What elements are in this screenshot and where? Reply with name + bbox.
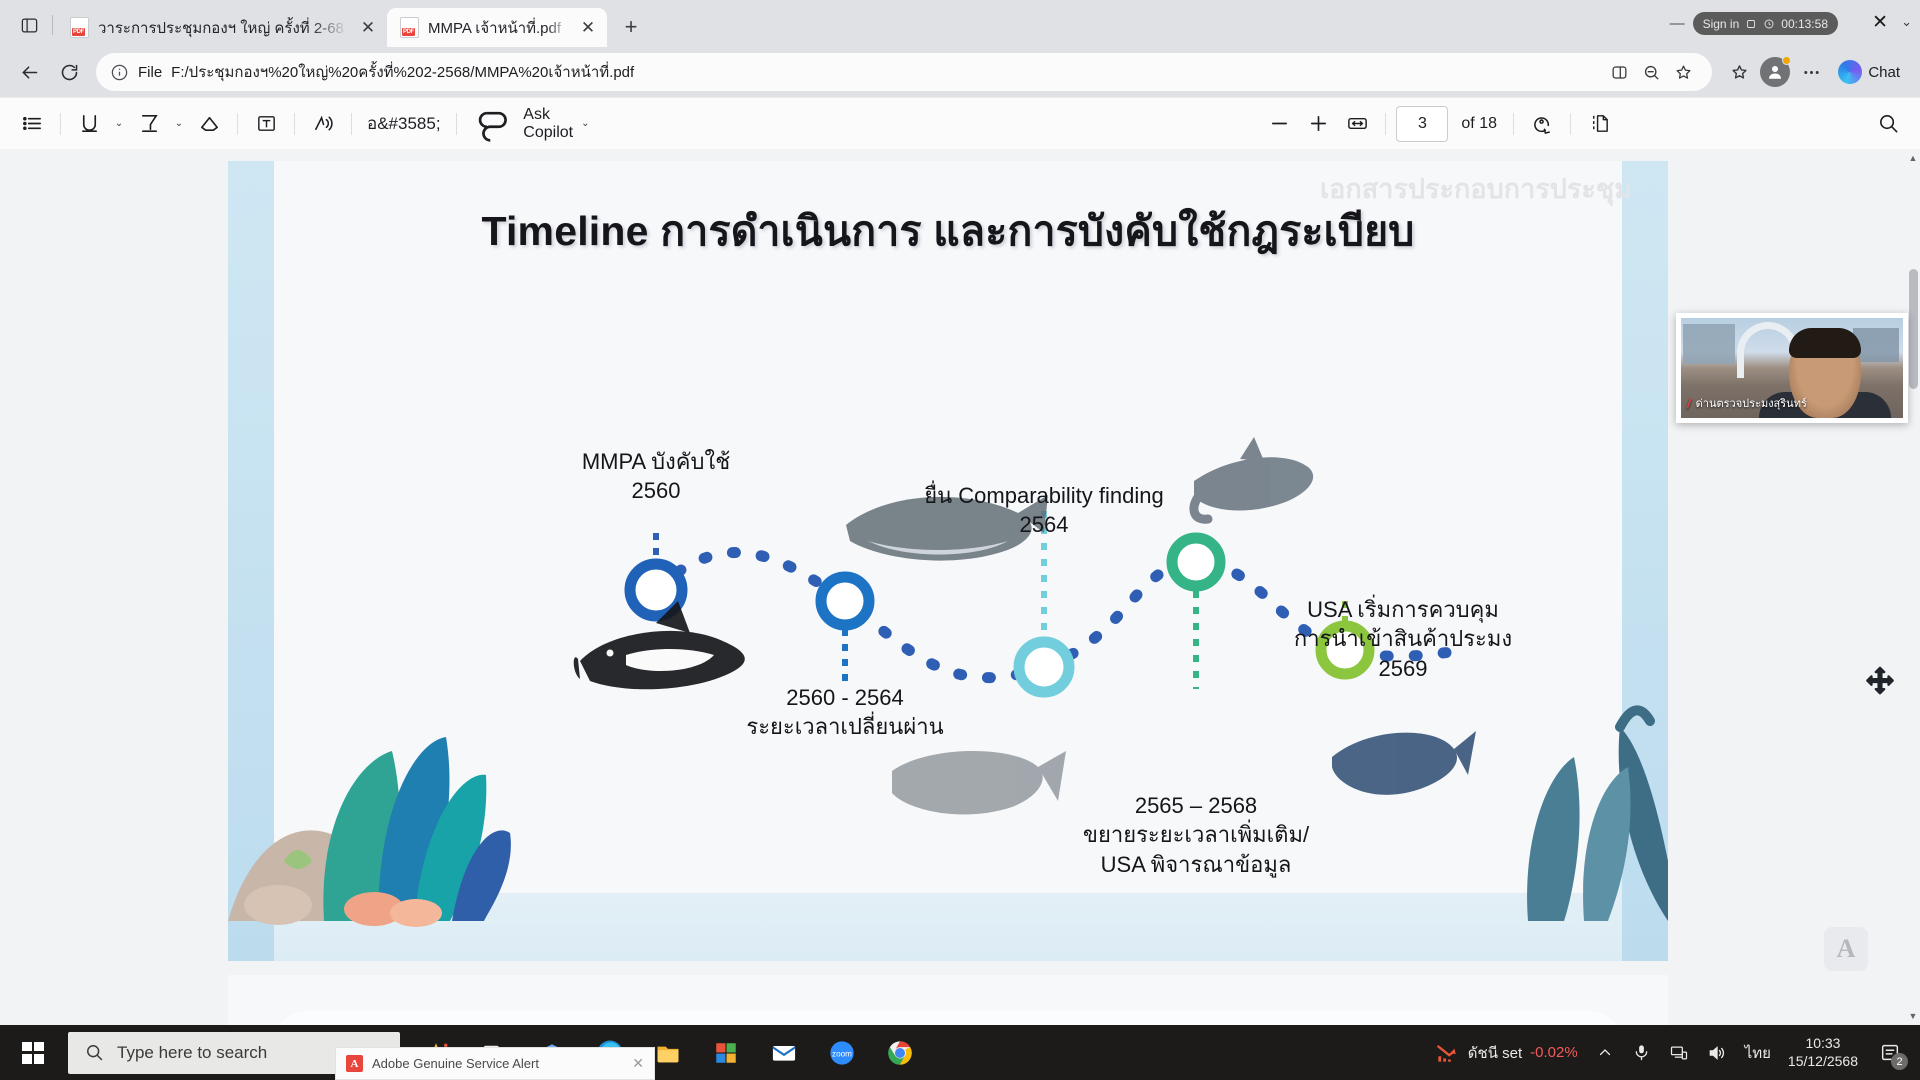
- adobe-alert-close-button[interactable]: ✕: [632, 1055, 644, 1072]
- tab-actions-button[interactable]: [6, 3, 52, 47]
- minus-icon: [1268, 112, 1291, 135]
- windows-taskbar: Type here to search: [0, 1025, 1920, 1080]
- browser-window: วาระการประชุมกองฯ ใหญ่ ครั้งที่ 2-68.p ✕…: [0, 0, 1920, 1025]
- ellipsis-icon: [1801, 62, 1822, 83]
- window-caret-icon[interactable]: ⌄: [1901, 14, 1912, 30]
- taskbar-item-mail[interactable]: [760, 1025, 808, 1080]
- webcam-caption-text: ด่านตรวจประมงสุรินทร์: [1696, 394, 1807, 412]
- read-aloud-button[interactable]: [305, 106, 341, 142]
- slide-left-water-column: [228, 161, 274, 961]
- translate-button[interactable]: อ&#3585;: [362, 106, 446, 142]
- tab-divider: [52, 15, 53, 35]
- ask-copilot-caret[interactable]: ⌄: [581, 108, 589, 140]
- file-explorer-icon: [654, 1039, 682, 1067]
- minimize-dash-icon: —: [1670, 15, 1685, 32]
- restore-window-icon: [1745, 18, 1757, 30]
- add-text-icon: [255, 112, 278, 135]
- timeline-label-2-line1: 2560 - 2564: [685, 683, 1005, 712]
- meeting-timer: 00:13:58: [1781, 17, 1828, 31]
- table-of-contents-icon: [21, 112, 44, 135]
- zoom-out-button[interactable]: [1636, 57, 1666, 87]
- url-text[interactable]: F:/ประชุมกองฯ%20ใหญ่%20ครั้งที่%202-2568…: [171, 60, 1595, 84]
- webcam-video: / ด่านตรวจประมงสุรินทร์: [1681, 318, 1903, 418]
- pdf-next-page: เอกสารประกอบการประชุม: [228, 975, 1668, 1025]
- read-aloud-icon: [312, 112, 335, 135]
- tab-close-button[interactable]: ✕: [577, 17, 599, 39]
- adobe-watermark-badge: A: [1824, 927, 1868, 971]
- tray-volume-button[interactable]: [1698, 1025, 1736, 1080]
- avatar-icon: [1766, 63, 1784, 81]
- underline-icon: [138, 112, 161, 135]
- timeline-label-3-line2: 2564: [854, 510, 1234, 539]
- chevron-up-icon: [1596, 1044, 1614, 1062]
- tray-notification-button[interactable]: 2: [1870, 1025, 1910, 1080]
- google-chrome-icon: [886, 1039, 914, 1067]
- browser-tab-1[interactable]: วาระการประชุมกองฯ ใหญ่ ครั้งที่ 2-68.p ✕: [57, 8, 387, 47]
- tray-stock-widget[interactable]: ดัชนี set -0.02%: [1425, 1025, 1587, 1080]
- adobe-genuine-alert[interactable]: A Adobe Genuine Service Alert ✕: [335, 1047, 655, 1080]
- timeline-label-4: 2565 – 2568 ขยายระยะเวลาเพิ่มเติม/ USA พ…: [1026, 791, 1366, 879]
- toolbar-divider: [237, 113, 238, 135]
- tray-clock[interactable]: 10:33 15/12/2568: [1780, 1035, 1870, 1070]
- timeline-label-5-line2: การนำเข้าสินค้าประมง: [1228, 624, 1578, 653]
- toolbar-divider: [351, 113, 352, 135]
- collections-icon: [1729, 62, 1750, 83]
- webcam-logo-icon: /: [1687, 396, 1691, 411]
- omnibox-actions: [1604, 57, 1698, 87]
- language-label: ไทย: [1745, 1041, 1771, 1065]
- window-close-button[interactable]: ✕: [1872, 11, 1888, 34]
- copilot-icon: [1838, 60, 1862, 84]
- next-page-card: [274, 1011, 1622, 1025]
- taskbar-item-microsoft-office[interactable]: [702, 1025, 750, 1080]
- plus-icon: [1307, 112, 1330, 135]
- add-text-button[interactable]: [248, 106, 284, 142]
- start-button[interactable]: [0, 1025, 66, 1080]
- mail-icon: [770, 1039, 798, 1067]
- webcam-caption: / ด่านตรวจประมงสุรินทร์: [1687, 394, 1807, 412]
- split-screen-icon: [1610, 63, 1629, 82]
- sign-in-label[interactable]: Sign in: [1703, 17, 1740, 31]
- tray-network-button[interactable]: [1660, 1025, 1698, 1080]
- windows-start-icon: [22, 1042, 44, 1064]
- ask-copilot-label: Ask Copilot: [523, 106, 573, 142]
- timeline-label-4-line1: 2565 – 2568: [1026, 791, 1366, 820]
- timeline-label-5: USA เริ่มการควบคุม การนำเข้าสินค้าประมง …: [1228, 595, 1578, 683]
- tab-title: วาระการประชุมกองฯ ใหญ่ ครั้งที่ 2-68.p: [98, 16, 348, 40]
- page-number-input[interactable]: 3: [1396, 106, 1448, 142]
- toolbar-divider: [1385, 113, 1386, 135]
- timeline-label-1: MMPA บังคับใช้ 2560: [496, 447, 816, 506]
- system-tray: ดัชนี set -0.02% ไทย 10:33: [1425, 1025, 1920, 1080]
- clock-time: 10:33: [1788, 1035, 1858, 1053]
- tab-strip: วาระการประชุมกองฯ ใหญ่ ครั้งที่ 2-68.p ✕…: [0, 0, 1920, 47]
- webcam-person-hair: [1789, 328, 1861, 358]
- highlight-options-caret[interactable]: ⌄: [110, 108, 128, 140]
- taskbar-item-google-chrome[interactable]: [876, 1025, 924, 1080]
- zoom-icon: zoom: [828, 1039, 856, 1067]
- search-icon: [1877, 112, 1900, 135]
- webcam-building-left: [1683, 324, 1735, 364]
- rotate-button[interactable]: [1524, 106, 1560, 142]
- pdf-icon: [70, 17, 89, 38]
- toolbar-divider: [294, 113, 295, 135]
- timeline-label-4-line2: ขยายระยะเวลาเพิ่มเติม/: [1026, 820, 1366, 849]
- timeline-label-5-line1: USA เริ่มการควบคุม: [1228, 595, 1578, 624]
- copilot-chat-button[interactable]: Chat: [1832, 55, 1910, 89]
- underline-button[interactable]: [131, 106, 167, 142]
- timeline-label-3: ยื่น Comparability finding 2564: [854, 481, 1234, 540]
- tab-close-button[interactable]: ✕: [357, 17, 379, 39]
- webcam-overlay[interactable]: / ด่านตรวจประมงสุรินทร์: [1676, 313, 1908, 423]
- scrollbar-thumb[interactable]: [1909, 269, 1918, 389]
- tray-microphone-button[interactable]: [1623, 1025, 1660, 1080]
- toolbar-divider: [60, 113, 61, 135]
- reload-button[interactable]: [50, 53, 88, 91]
- pdf-toolbar-right: 3 of 18: [1261, 106, 1906, 142]
- timeline-label-3-line1: ยื่น Comparability finding: [854, 481, 1234, 510]
- volume-icon: [1707, 1043, 1727, 1063]
- back-arrow-icon: [19, 62, 40, 83]
- info-icon[interactable]: [110, 63, 129, 82]
- eraser-button[interactable]: [191, 106, 227, 142]
- browser-tab-2[interactable]: MMPA เจ้าหน้าที่.pdf ✕: [387, 8, 607, 47]
- page-layout-button[interactable]: [1581, 106, 1617, 142]
- svg-text:zoom: zoom: [832, 1049, 852, 1058]
- toolbar-divider: [1513, 113, 1514, 135]
- stock-label: ดัชนี set: [1468, 1041, 1522, 1065]
- eraser-icon: [198, 112, 221, 135]
- profile-button[interactable]: [1760, 57, 1790, 87]
- new-tab-button[interactable]: +: [614, 10, 648, 44]
- zoom-in-button[interactable]: [1300, 106, 1336, 142]
- timeline-label-2: 2560 - 2564 ระยะเวลาเปลี่ยนผ่าน: [685, 683, 1005, 742]
- adobe-alert-text: Adobe Genuine Service Alert: [372, 1056, 623, 1071]
- microsoft-office-icon: [713, 1040, 739, 1066]
- microphone-icon: [1632, 1043, 1651, 1062]
- profile-alert-dot: [1782, 56, 1791, 65]
- table-of-contents-button[interactable]: [14, 106, 50, 142]
- translate-icon: อ&#3585;: [367, 110, 441, 137]
- reload-icon: [59, 62, 80, 83]
- search-in-document-button[interactable]: [1870, 106, 1906, 142]
- timeline-label-1-line1: MMPA บังคับใช้: [496, 447, 816, 476]
- clock-date: 15/12/2568: [1788, 1053, 1858, 1071]
- taskbar-item-zoom[interactable]: zoom: [818, 1025, 866, 1080]
- collections-button[interactable]: [1720, 53, 1758, 91]
- split-screen-button[interactable]: [1604, 57, 1634, 87]
- scroll-down-arrow-icon[interactable]: ▼: [1908, 1011, 1918, 1021]
- star-icon: [1674, 63, 1693, 82]
- back-button[interactable]: [10, 53, 48, 91]
- toolbar-divider: [1570, 113, 1571, 135]
- notification-count-badge: 2: [1891, 1053, 1908, 1070]
- clock-icon: [1763, 18, 1775, 30]
- tray-overflow-button[interactable]: [1587, 1025, 1623, 1080]
- move-cursor-icon: [1863, 665, 1897, 699]
- add-favorite-button[interactable]: [1668, 57, 1698, 87]
- zoom-out-icon: [1642, 63, 1661, 82]
- search-placeholder: Type here to search: [117, 1043, 267, 1063]
- scroll-up-arrow-icon[interactable]: ▲: [1908, 153, 1918, 163]
- navigation-bar: File F:/ประชุมกองฯ%20ใหญ่%20ครั้งที่%202…: [0, 47, 1920, 97]
- fit-width-button[interactable]: [1339, 106, 1375, 142]
- meeting-status-pill[interactable]: — Sign in 00:13:58: [1693, 12, 1838, 35]
- pdf-viewer[interactable]: เอกสารประกอบการประชุม Timeline การดำเนิน…: [0, 149, 1920, 1025]
- pdf-page: เอกสารประกอบการประชุม Timeline การดำเนิน…: [228, 161, 1668, 961]
- search-icon: [84, 1042, 105, 1063]
- url-scheme-label: File: [138, 64, 162, 81]
- stock-down-icon: [1434, 1040, 1460, 1066]
- page-layout-icon: [1588, 112, 1611, 135]
- timeline-label-1-line2: 2560: [496, 476, 816, 505]
- tab-list-icon: [20, 16, 39, 35]
- slide-title: Timeline การดำเนินการ และการบังคับใช้กฎร…: [228, 199, 1668, 264]
- timeline-label-2-line2: ระยะเวลาเปลี่ยนผ่าน: [685, 712, 1005, 741]
- underline-options-caret[interactable]: ⌄: [170, 108, 188, 140]
- copilot-label: Chat: [1868, 64, 1900, 81]
- network-icon: [1669, 1043, 1689, 1063]
- ask-copilot-button[interactable]: Ask Copilot ⌄: [467, 106, 598, 142]
- highlight-button[interactable]: [71, 106, 107, 142]
- rotate-icon: [1531, 112, 1554, 135]
- timeline-label-4-line3: USA พิจารณาข้อมูล: [1026, 850, 1366, 879]
- stock-change: -0.02%: [1530, 1044, 1578, 1061]
- pdf-toolbar: ⌄ ⌄ อ&#3585;: [0, 97, 1920, 149]
- pdf-icon: [400, 17, 419, 38]
- address-bar[interactable]: File F:/ประชุมกองฯ%20ใหญ่%20ครั้งที่%202…: [96, 53, 1712, 91]
- highlight-icon: [78, 112, 101, 135]
- timeline-label-5-line3: 2569: [1228, 654, 1578, 683]
- zoom-out-button[interactable]: [1261, 106, 1297, 142]
- tray-language-indicator[interactable]: ไทย: [1736, 1025, 1780, 1080]
- adobe-icon: A: [1837, 934, 1856, 964]
- page-total-label: of 18: [1461, 115, 1497, 133]
- slide-right-water-column: [1622, 161, 1668, 961]
- toolbar-divider: [456, 113, 457, 135]
- tab-title: MMPA เจ้าหน้าที่.pdf: [428, 16, 568, 40]
- fit-width-icon: [1346, 112, 1369, 135]
- copilot-icon: [475, 103, 516, 144]
- adobe-icon: A: [346, 1055, 363, 1072]
- viewer-scrollbar[interactable]: ▲ ▼: [1906, 149, 1920, 1025]
- browser-settings-button[interactable]: [1792, 53, 1830, 91]
